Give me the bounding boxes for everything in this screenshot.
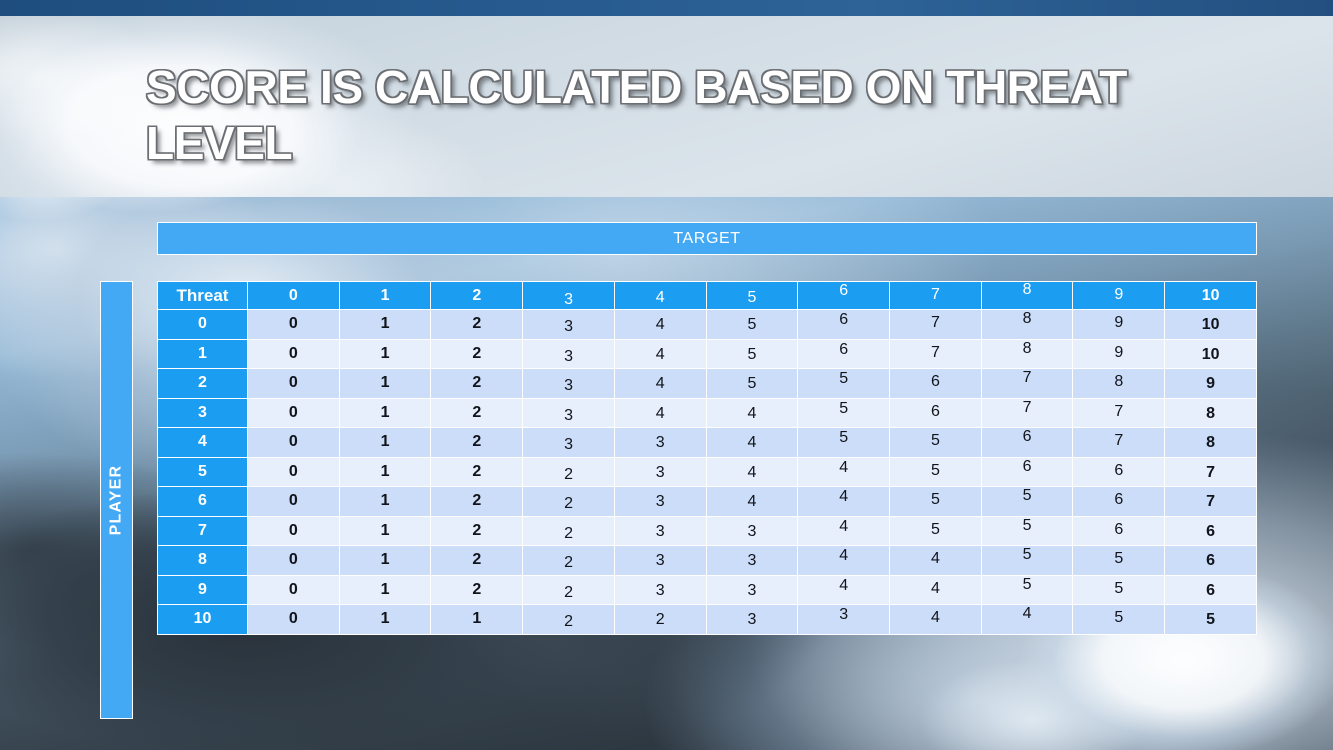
- matrix-cell-r7-c10: 6: [1165, 516, 1257, 546]
- matrix-cell-value: 2: [564, 525, 573, 542]
- slide-canvas: Score is calculated based on threat leve…: [0, 0, 1333, 750]
- matrix-cell-r9-c9: 5: [1073, 575, 1165, 605]
- matrix-cell-r0-c0: 0: [248, 310, 340, 340]
- matrix-cell-r4-c5: 4: [706, 428, 798, 458]
- matrix-cell-value: 2: [564, 495, 573, 512]
- matrix-cell-value: 4: [931, 580, 940, 597]
- matrix-cell-value: 1: [381, 581, 390, 598]
- matrix-cell-r0-c6: 6: [798, 310, 890, 340]
- matrix-cell-value: 1: [381, 374, 390, 391]
- matrix-cell-r1-c5: 5: [706, 339, 798, 369]
- matrix-cell-value: 5: [1023, 517, 1032, 534]
- matrix-cell-value: 2: [564, 584, 573, 601]
- matrix-cell-value: 2: [472, 492, 481, 509]
- matrix-cell-value: 2: [564, 613, 573, 630]
- matrix-cell-r1-c1: 1: [339, 339, 431, 369]
- matrix-cell-value: 9: [1114, 314, 1123, 331]
- matrix-cell-r5-c10: 7: [1165, 457, 1257, 487]
- matrix-cell-r6-c7: 5: [890, 487, 982, 517]
- matrix-row-header-5: 5: [158, 457, 248, 487]
- matrix-cell-r3-c4: 4: [614, 398, 706, 428]
- matrix-cell-value: 8: [1206, 434, 1215, 451]
- matrix-cell-value: 6: [1206, 552, 1215, 569]
- matrix-cell-value: 2: [472, 522, 481, 539]
- matrix-cell-value: 2: [472, 463, 481, 480]
- matrix-cell-value: 3: [656, 552, 665, 569]
- matrix-cell-value: 0: [289, 374, 298, 391]
- matrix-cell-r2-c7: 6: [890, 369, 982, 399]
- matrix-cell-value: 4: [931, 609, 940, 626]
- matrix-column-header-label: 1: [381, 287, 390, 304]
- matrix-cell-r3-c9: 7: [1073, 398, 1165, 428]
- matrix-cell-r9-c3: 2: [523, 575, 615, 605]
- matrix-cell-r8-c8: 5: [981, 546, 1073, 576]
- matrix-cell-r4-c10: 8: [1165, 428, 1257, 458]
- matrix-cell-value: 7: [1023, 369, 1032, 386]
- matrix-cell-value: 3: [748, 552, 757, 569]
- matrix-column-header-9: 9: [1073, 282, 1165, 310]
- matrix-cell-value: 1: [381, 463, 390, 480]
- matrix-cell-value: 4: [748, 434, 757, 451]
- matrix-cell-value: 6: [1114, 462, 1123, 479]
- matrix-cell-value: 7: [931, 344, 940, 361]
- matrix-column-header-0: 0: [248, 282, 340, 310]
- matrix-column-header-1: 1: [339, 282, 431, 310]
- matrix-cell-value: 2: [656, 611, 665, 628]
- matrix-cell-r6-c0: 0: [248, 487, 340, 517]
- matrix-cell-r0-c4: 4: [614, 310, 706, 340]
- matrix-body: 0012345678910101234567891020123455678930…: [158, 310, 1257, 635]
- matrix-cell-r10-c3: 2: [523, 605, 615, 635]
- matrix-cell-r6-c8: 5: [981, 487, 1073, 517]
- matrix-cell-r6-c4: 3: [614, 487, 706, 517]
- matrix-cell-value: 1: [381, 315, 390, 332]
- matrix-column-header-7: 7: [890, 282, 982, 310]
- matrix-corner-header: Threat: [158, 282, 248, 310]
- matrix-cell-r7-c0: 0: [248, 516, 340, 546]
- matrix-column-header-label: 5: [748, 289, 757, 306]
- matrix-column-header-8: 8: [981, 282, 1073, 310]
- page-title: Score is calculated based on threat leve…: [146, 60, 1146, 171]
- matrix-cell-r2-c6: 5: [798, 369, 890, 399]
- matrix-cell-value: 4: [656, 316, 665, 333]
- table-row: 501223445667: [158, 457, 1257, 487]
- matrix-cell-r10-c2: 1: [431, 605, 523, 635]
- matrix-row-header-8: 8: [158, 546, 248, 576]
- matrix-cell-value: 0: [289, 551, 298, 568]
- matrix-cell-value: 9: [1114, 344, 1123, 361]
- matrix-cell-value: 4: [839, 488, 848, 505]
- matrix-cell-value: 8: [1023, 310, 1032, 327]
- matrix-column-header-label: 6: [839, 282, 848, 299]
- matrix-cell-value: 3: [656, 582, 665, 599]
- top-accent-strip: [0, 0, 1333, 16]
- matrix-cell-r0-c5: 5: [706, 310, 798, 340]
- matrix-cell-r7-c5: 3: [706, 516, 798, 546]
- table-row: 901223344556: [158, 575, 1257, 605]
- matrix-cell-r8-c2: 2: [431, 546, 523, 576]
- matrix-cell-value: 0: [289, 404, 298, 421]
- target-axis-banner: TARGET: [157, 222, 1257, 255]
- matrix-row-header-4: 4: [158, 428, 248, 458]
- matrix-cell-value: 4: [931, 550, 940, 567]
- matrix-cell-r8-c7: 4: [890, 546, 982, 576]
- matrix-cell-value: 0: [289, 610, 298, 627]
- matrix-cell-value: 8: [1114, 373, 1123, 390]
- matrix-cell-value: 1: [381, 345, 390, 362]
- matrix-cell-r3-c8: 7: [981, 398, 1073, 428]
- matrix-cell-r3-c5: 4: [706, 398, 798, 428]
- matrix-cell-value: 5: [931, 491, 940, 508]
- matrix-cell-r4-c3: 3: [523, 428, 615, 458]
- matrix-cell-r7-c7: 5: [890, 516, 982, 546]
- matrix-cell-r1-c10: 10: [1165, 339, 1257, 369]
- matrix-row-header-0: 0: [158, 310, 248, 340]
- matrix-cell-value: 1: [381, 404, 390, 421]
- matrix-cell-r9-c7: 4: [890, 575, 982, 605]
- matrix-cell-value: 6: [1023, 428, 1032, 445]
- matrix-cell-value: 9: [1206, 375, 1215, 392]
- matrix-cell-value: 6: [1206, 582, 1215, 599]
- matrix-cell-r1-c2: 2: [431, 339, 523, 369]
- matrix-cell-r2-c10: 9: [1165, 369, 1257, 399]
- matrix-row-header-1: 1: [158, 339, 248, 369]
- matrix-column-header-label: 8: [1023, 281, 1032, 298]
- table-row: 1001122334455: [158, 605, 1257, 635]
- matrix-cell-value: 7: [1206, 464, 1215, 481]
- matrix-cell-r2-c1: 1: [339, 369, 431, 399]
- matrix-cell-r6-c5: 4: [706, 487, 798, 517]
- matrix-cell-value: 3: [564, 436, 573, 453]
- matrix-cell-value: 7: [1114, 432, 1123, 449]
- matrix-column-header-label: 4: [656, 289, 665, 306]
- matrix-cell-r8-c0: 0: [248, 546, 340, 576]
- matrix-cell-r1-c4: 4: [614, 339, 706, 369]
- matrix-cell-r0-c8: 8: [981, 310, 1073, 340]
- matrix-cell-value: 4: [839, 518, 848, 535]
- table-row: 1012345678910: [158, 339, 1257, 369]
- matrix-cell-value: 2: [564, 466, 573, 483]
- matrix-cell-r0-c9: 9: [1073, 310, 1165, 340]
- matrix-cell-value: 5: [839, 400, 848, 417]
- matrix-cell-value: 0: [289, 522, 298, 539]
- matrix-cell-value: 2: [564, 554, 573, 571]
- table-row: 0012345678910: [158, 310, 1257, 340]
- matrix-cell-r4-c2: 2: [431, 428, 523, 458]
- matrix-cell-value: 5: [839, 370, 848, 387]
- matrix-cell-value: 6: [1206, 523, 1215, 540]
- matrix-cell-value: 7: [1114, 403, 1123, 420]
- matrix-cell-value: 1: [381, 551, 390, 568]
- matrix-cell-r5-c0: 0: [248, 457, 340, 487]
- matrix-cell-value: 2: [472, 404, 481, 421]
- matrix-cell-r1-c8: 8: [981, 339, 1073, 369]
- matrix-cell-r9-c0: 0: [248, 575, 340, 605]
- matrix-cell-r6-c10: 7: [1165, 487, 1257, 517]
- matrix-cell-value: 3: [564, 377, 573, 394]
- table-row: 201234556789: [158, 369, 1257, 399]
- matrix-cell-r4-c0: 0: [248, 428, 340, 458]
- matrix-cell-value: 5: [748, 346, 757, 363]
- matrix-cell-value: 0: [289, 433, 298, 450]
- matrix-cell-r3-c6: 5: [798, 398, 890, 428]
- matrix-cell-value: 2: [472, 551, 481, 568]
- matrix-cell-r7-c6: 4: [798, 516, 890, 546]
- matrix-cell-value: 4: [839, 547, 848, 564]
- matrix-cell-r2-c8: 7: [981, 369, 1073, 399]
- matrix-cell-r7-c2: 2: [431, 516, 523, 546]
- matrix-cell-value: 7: [1206, 493, 1215, 510]
- matrix-cell-value: 4: [748, 405, 757, 422]
- matrix-cell-r6-c9: 6: [1073, 487, 1165, 517]
- matrix-cell-value: 7: [1023, 399, 1032, 416]
- matrix-cell-value: 4: [748, 493, 757, 510]
- matrix-cell-r5-c2: 2: [431, 457, 523, 487]
- matrix-cell-value: 0: [289, 463, 298, 480]
- matrix-cell-value: 3: [564, 318, 573, 335]
- matrix-cell-value: 6: [1023, 458, 1032, 475]
- matrix-cell-value: 6: [931, 373, 940, 390]
- matrix-cell-value: 1: [381, 610, 390, 627]
- matrix-cell-r8-c6: 4: [798, 546, 890, 576]
- matrix-cell-r8-c4: 3: [614, 546, 706, 576]
- matrix-cell-value: 2: [472, 345, 481, 362]
- matrix-row-header-3: 3: [158, 398, 248, 428]
- matrix-cell-value: 5: [1023, 576, 1032, 593]
- matrix-cell-r7-c8: 5: [981, 516, 1073, 546]
- matrix-cell-r1-c7: 7: [890, 339, 982, 369]
- matrix-cell-value: 1: [381, 492, 390, 509]
- matrix-cell-r6-c1: 1: [339, 487, 431, 517]
- matrix-column-header-4: 4: [614, 282, 706, 310]
- matrix-cell-r4-c8: 6: [981, 428, 1073, 458]
- matrix-cell-r5-c5: 4: [706, 457, 798, 487]
- matrix-cell-r10-c0: 0: [248, 605, 340, 635]
- matrix-header: Threat 012345678910: [158, 282, 1257, 310]
- matrix-cell-r6-c2: 2: [431, 487, 523, 517]
- matrix-cell-r5-c7: 5: [890, 457, 982, 487]
- matrix-cell-value: 5: [1023, 546, 1032, 563]
- matrix-cell-value: 8: [1206, 405, 1215, 422]
- matrix-cell-value: 3: [656, 434, 665, 451]
- matrix-cell-value: 3: [656, 493, 665, 510]
- matrix-cell-value: 5: [931, 521, 940, 538]
- matrix-cell-r0-c2: 2: [431, 310, 523, 340]
- matrix-row-header-2: 2: [158, 369, 248, 399]
- matrix-cell-r2-c4: 4: [614, 369, 706, 399]
- matrix-cell-r9-c6: 4: [798, 575, 890, 605]
- matrix-cell-r4-c7: 5: [890, 428, 982, 458]
- matrix-cell-r1-c9: 9: [1073, 339, 1165, 369]
- matrix-cell-value: 3: [656, 464, 665, 481]
- matrix-cell-value: 5: [748, 316, 757, 333]
- matrix-cell-value: 5: [1206, 611, 1215, 628]
- matrix-cell-r10-c4: 2: [614, 605, 706, 635]
- matrix-cell-r6-c3: 2: [523, 487, 615, 517]
- matrix-cell-r8-c9: 5: [1073, 546, 1165, 576]
- table-row: 601223445567: [158, 487, 1257, 517]
- matrix-cell-value: 5: [748, 375, 757, 392]
- matrix-cell-r5-c6: 4: [798, 457, 890, 487]
- matrix-cell-value: 10: [1202, 316, 1220, 333]
- matrix-cell-value: 5: [1114, 580, 1123, 597]
- matrix-cell-value: 1: [381, 522, 390, 539]
- matrix-cell-r5-c1: 1: [339, 457, 431, 487]
- matrix-cell-r5-c9: 6: [1073, 457, 1165, 487]
- matrix-cell-value: 6: [1114, 491, 1123, 508]
- matrix-cell-r4-c6: 5: [798, 428, 890, 458]
- matrix-cell-r0-c7: 7: [890, 310, 982, 340]
- matrix-cell-value: 3: [564, 348, 573, 365]
- matrix-cell-r9-c4: 3: [614, 575, 706, 605]
- matrix-cell-value: 8: [1023, 340, 1032, 357]
- matrix-cell-r10-c9: 5: [1073, 605, 1165, 635]
- matrix-cell-r10-c1: 1: [339, 605, 431, 635]
- matrix-cell-r5-c4: 3: [614, 457, 706, 487]
- player-axis-label: PLAYER: [108, 465, 126, 536]
- matrix-cell-r1-c3: 3: [523, 339, 615, 369]
- matrix-cell-value: 4: [1023, 605, 1032, 622]
- matrix-column-header-10: 10: [1165, 282, 1257, 310]
- matrix-cell-value: 1: [472, 610, 481, 627]
- matrix-cell-r3-c1: 1: [339, 398, 431, 428]
- matrix-column-header-6: 6: [798, 282, 890, 310]
- matrix-column-header-2: 2: [431, 282, 523, 310]
- matrix-column-header-label: 2: [472, 287, 481, 304]
- matrix-cell-r1-c0: 0: [248, 339, 340, 369]
- matrix-cell-value: 3: [656, 523, 665, 540]
- matrix-cell-r6-c6: 4: [798, 487, 890, 517]
- matrix-column-header-label: 0: [289, 287, 298, 304]
- matrix-column-header-3: 3: [523, 282, 615, 310]
- matrix-cell-r4-c1: 1: [339, 428, 431, 458]
- matrix-cell-value: 4: [839, 577, 848, 594]
- matrix-cell-value: 0: [289, 581, 298, 598]
- matrix-cell-value: 2: [472, 581, 481, 598]
- matrix-cell-r2-c2: 2: [431, 369, 523, 399]
- target-axis-label: TARGET: [673, 230, 740, 248]
- matrix-cell-r7-c9: 6: [1073, 516, 1165, 546]
- score-matrix-table: Threat 012345678910 00123456789101012345…: [157, 281, 1257, 635]
- matrix-cell-value: 5: [931, 462, 940, 479]
- matrix-cell-value: 3: [748, 582, 757, 599]
- matrix-cell-value: 3: [748, 523, 757, 540]
- matrix-column-header-label: 3: [564, 291, 573, 308]
- matrix-cell-r3-c3: 3: [523, 398, 615, 428]
- matrix-cell-value: 4: [656, 346, 665, 363]
- matrix-cell-r8-c5: 3: [706, 546, 798, 576]
- matrix-cell-r1-c6: 6: [798, 339, 890, 369]
- matrix-cell-r0-c1: 1: [339, 310, 431, 340]
- title-band: Score is calculated based on threat leve…: [0, 16, 1333, 197]
- matrix-cell-r8-c10: 6: [1165, 546, 1257, 576]
- matrix-cell-value: 3: [564, 407, 573, 424]
- matrix-column-header-5: 5: [706, 282, 798, 310]
- matrix-cell-r0-c10: 10: [1165, 310, 1257, 340]
- matrix-cell-value: 0: [289, 492, 298, 509]
- matrix-cell-r10-c7: 4: [890, 605, 982, 635]
- matrix-column-header-label: 10: [1202, 287, 1220, 304]
- matrix-cell-value: 1: [381, 433, 390, 450]
- matrix-cell-value: 2: [472, 433, 481, 450]
- matrix-cell-value: 10: [1202, 346, 1220, 363]
- matrix-cell-value: 6: [839, 311, 848, 328]
- matrix-column-header-label: 9: [1114, 286, 1123, 303]
- matrix-cell-r9-c10: 6: [1165, 575, 1257, 605]
- matrix-cell-value: 5: [931, 432, 940, 449]
- matrix-cell-r10-c10: 5: [1165, 605, 1257, 635]
- matrix-cell-value: 5: [1114, 609, 1123, 626]
- matrix-cell-r9-c1: 1: [339, 575, 431, 605]
- matrix-cell-value: 7: [931, 314, 940, 331]
- matrix-cell-r7-c3: 2: [523, 516, 615, 546]
- matrix-row-header-6: 6: [158, 487, 248, 517]
- matrix-cell-r7-c1: 1: [339, 516, 431, 546]
- matrix-cell-r3-c0: 0: [248, 398, 340, 428]
- matrix-cell-r2-c3: 3: [523, 369, 615, 399]
- player-axis-banner: PLAYER: [100, 281, 133, 719]
- matrix-cell-r9-c2: 2: [431, 575, 523, 605]
- matrix-cell-r2-c5: 5: [706, 369, 798, 399]
- matrix-cell-r7-c4: 3: [614, 516, 706, 546]
- matrix-cell-value: 4: [748, 464, 757, 481]
- table-row: 401233455678: [158, 428, 1257, 458]
- matrix-cell-r8-c1: 1: [339, 546, 431, 576]
- matrix-cell-r9-c8: 5: [981, 575, 1073, 605]
- matrix-cell-value: 6: [931, 403, 940, 420]
- matrix-cell-r3-c10: 8: [1165, 398, 1257, 428]
- matrix-cell-value: 0: [289, 345, 298, 362]
- table-row: 701223345566: [158, 516, 1257, 546]
- matrix-cell-value: 4: [656, 375, 665, 392]
- matrix-row-header-9: 9: [158, 575, 248, 605]
- matrix-cell-value: 6: [839, 341, 848, 358]
- matrix-cell-r4-c9: 7: [1073, 428, 1165, 458]
- matrix-cell-value: 3: [839, 606, 848, 623]
- matrix-cell-value: 3: [748, 611, 757, 628]
- matrix-cell-value: 5: [1114, 550, 1123, 567]
- matrix-cell-r4-c4: 3: [614, 428, 706, 458]
- matrix-row-header-10: 10: [158, 605, 248, 635]
- matrix-cell-value: 5: [1023, 487, 1032, 504]
- matrix-cell-value: 6: [1114, 521, 1123, 538]
- matrix-cell-r0-c3: 3: [523, 310, 615, 340]
- matrix-cell-r2-c0: 0: [248, 369, 340, 399]
- matrix-cell-r9-c5: 3: [706, 575, 798, 605]
- matrix-cell-r10-c6: 3: [798, 605, 890, 635]
- table-row: 801223344556: [158, 546, 1257, 576]
- matrix-cell-value: 4: [839, 459, 848, 476]
- matrix-cell-value: 2: [472, 374, 481, 391]
- table-row: 301234456778: [158, 398, 1257, 428]
- matrix-cell-r2-c9: 8: [1073, 369, 1165, 399]
- matrix-row-header-7: 7: [158, 516, 248, 546]
- matrix-cell-r5-c3: 2: [523, 457, 615, 487]
- matrix-cell-r3-c2: 2: [431, 398, 523, 428]
- matrix-cell-value: 2: [472, 315, 481, 332]
- matrix-cell-r3-c7: 6: [890, 398, 982, 428]
- matrix-cell-value: 0: [289, 315, 298, 332]
- matrix-header-row: Threat 012345678910: [158, 282, 1257, 310]
- matrix-cell-value: 5: [839, 429, 848, 446]
- matrix-cell-value: 4: [656, 405, 665, 422]
- score-matrix-wrapper: Threat 012345678910 00123456789101012345…: [157, 281, 1257, 635]
- matrix-column-header-label: 7: [931, 286, 940, 303]
- matrix-cell-r10-c8: 4: [981, 605, 1073, 635]
- matrix-cell-r5-c8: 6: [981, 457, 1073, 487]
- matrix-cell-r10-c5: 3: [706, 605, 798, 635]
- matrix-cell-r8-c3: 2: [523, 546, 615, 576]
